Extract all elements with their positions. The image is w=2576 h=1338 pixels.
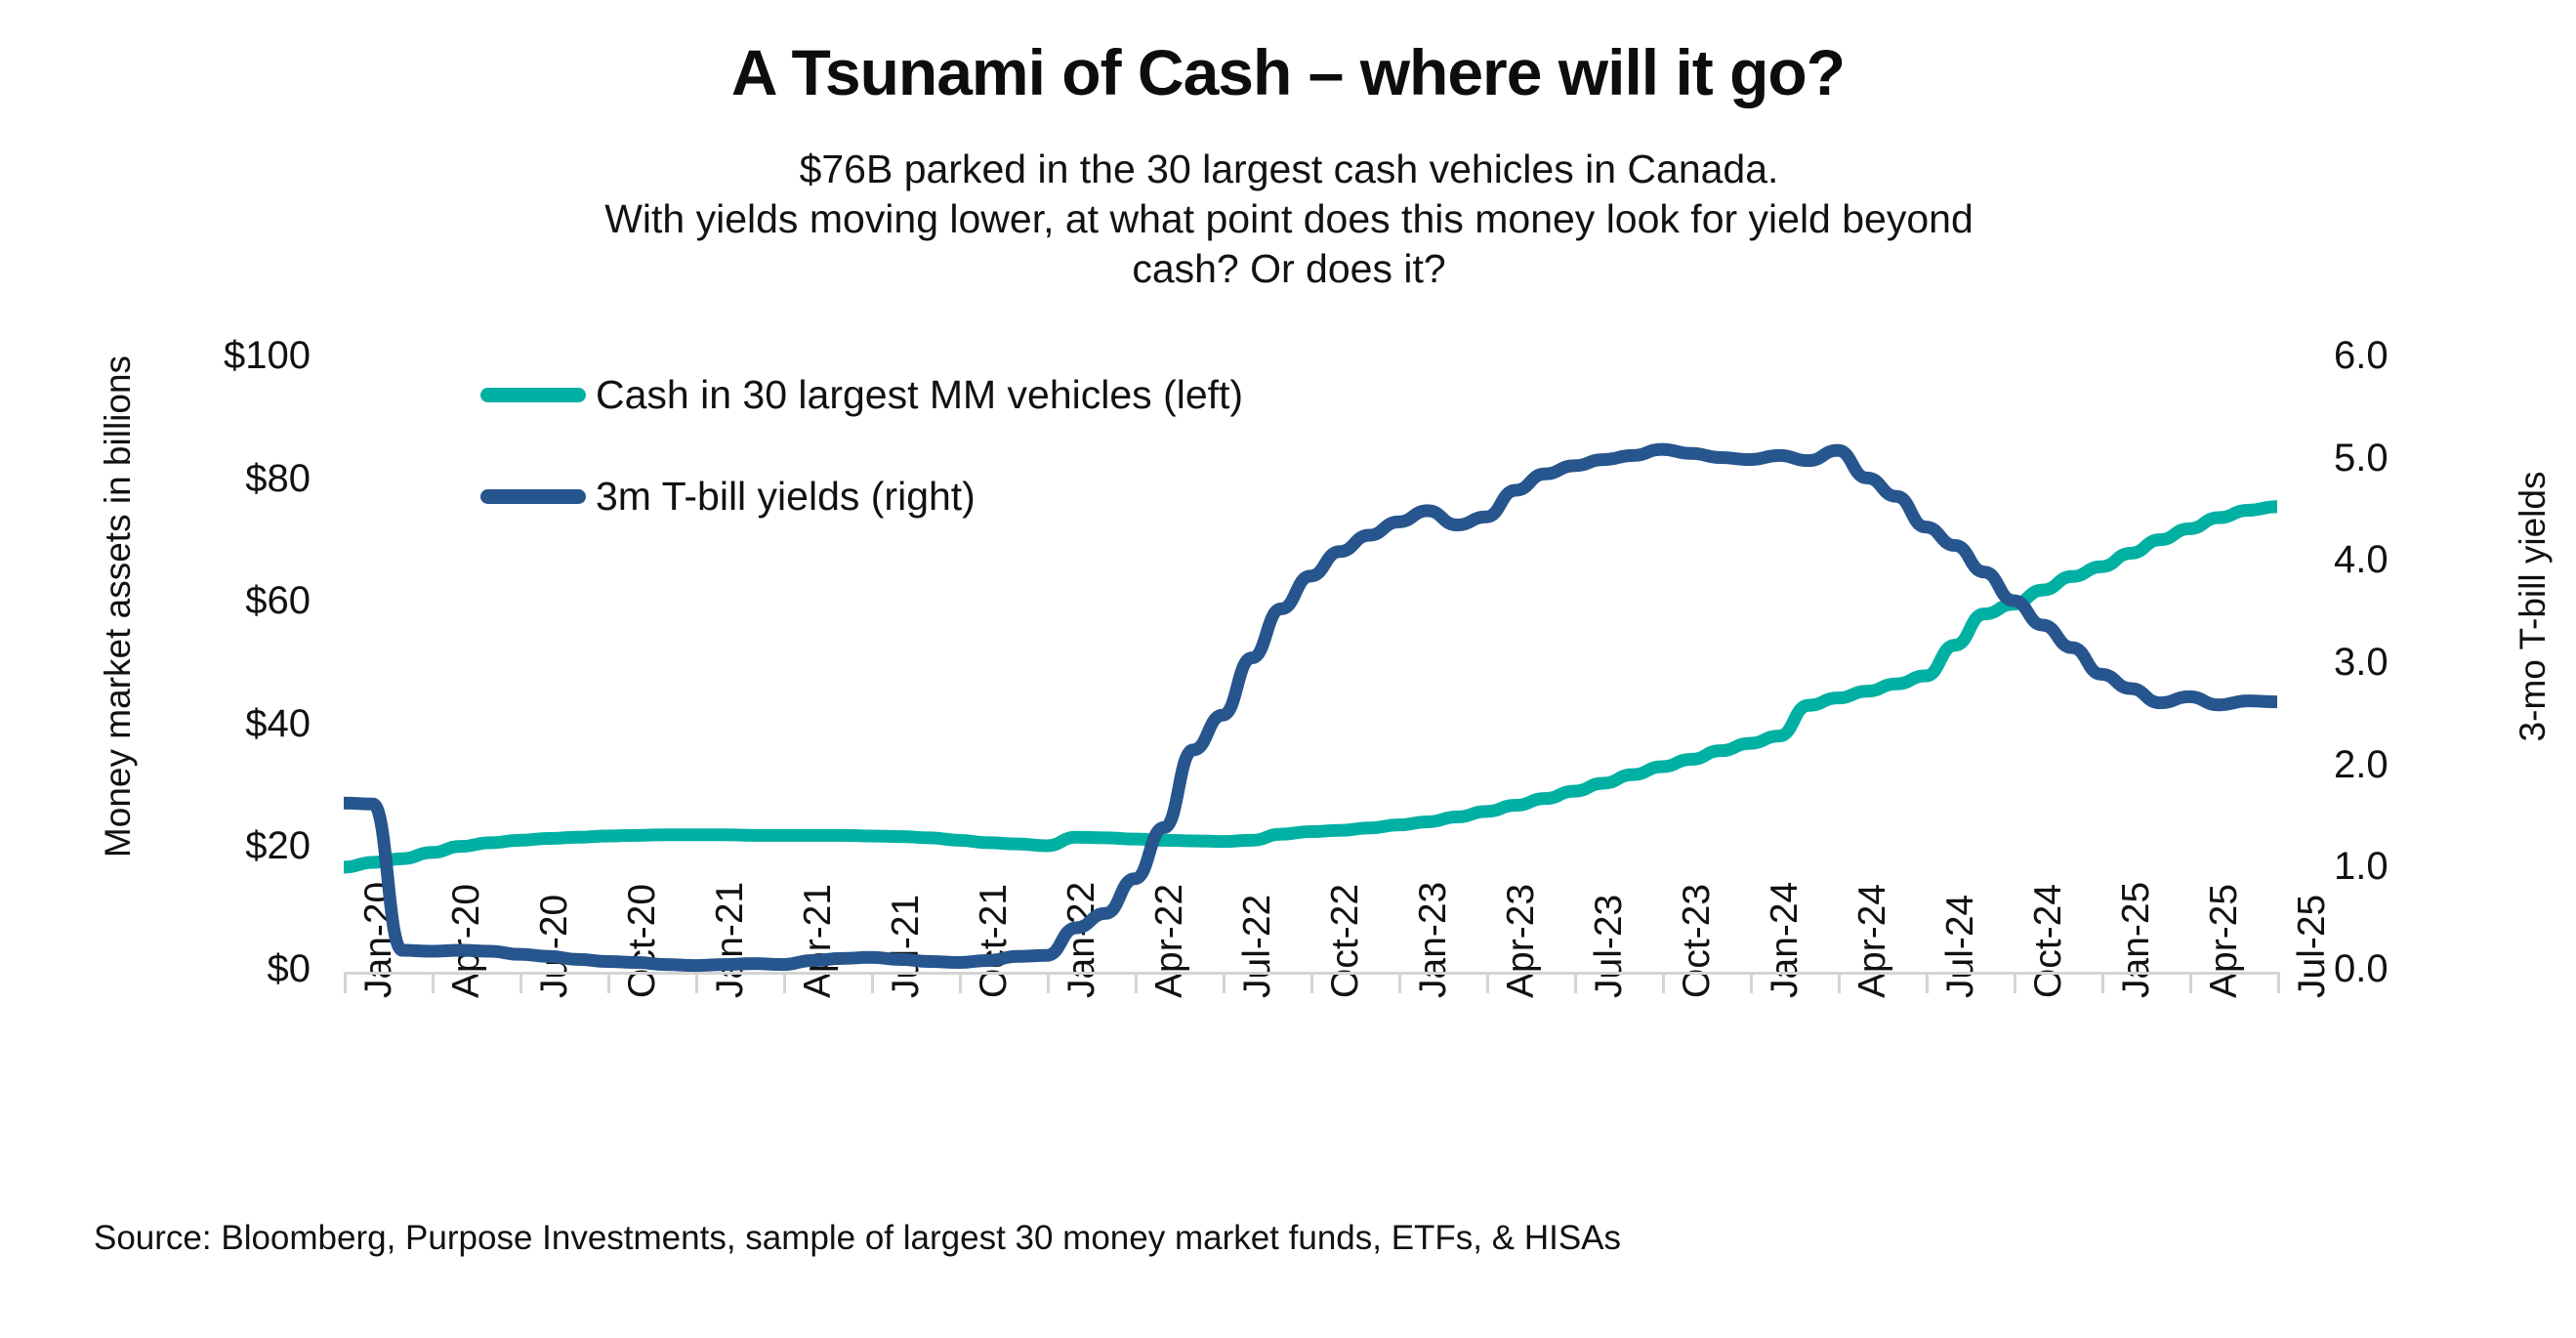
subtitle-line-2: With yields moving lower, at what point …	[322, 194, 2256, 244]
y-axis-right-title: 3-mo T-bill yields	[2513, 304, 2554, 909]
x-tickmark	[1926, 972, 1929, 993]
y-right-tick-label: 5.0	[2334, 437, 2389, 481]
subtitle-line-3: cash? Or does it?	[322, 244, 2256, 294]
legend-item-cash: Cash in 30 largest MM vehicles (left)	[480, 363, 1652, 426]
legend-swatch-yield	[480, 489, 586, 504]
x-tickmark	[1398, 972, 1401, 993]
x-tickmark	[871, 972, 874, 993]
y-left-tick-label: $0	[268, 947, 312, 991]
x-tickmark	[1574, 972, 1577, 993]
x-tickmark	[2277, 972, 2280, 993]
y-right-tick-label: 0.0	[2334, 947, 2389, 991]
x-tickmark	[519, 972, 522, 993]
y-right-tick-label: 4.0	[2334, 538, 2389, 582]
chart-page: A Tsunami of Cash – where will it go? $7…	[0, 0, 2576, 1338]
x-tickmark	[1223, 972, 1226, 993]
y-left-tick-label: $60	[245, 579, 311, 623]
y-left-tick-label: $20	[245, 824, 311, 868]
y-right-tick-label: 2.0	[2334, 743, 2389, 787]
x-tickmark	[959, 972, 962, 993]
x-tickmark	[1135, 972, 1138, 993]
x-tick-label: Jul-25	[2291, 895, 2334, 998]
series-line-cash-assets	[344, 507, 2277, 867]
x-tickmark	[1047, 972, 1050, 993]
y-left-tick-label: $100	[224, 334, 311, 378]
page-title: A Tsunami of Cash – where will it go?	[0, 35, 2576, 109]
x-tickmark	[2014, 972, 2016, 993]
x-tickmark	[1750, 972, 1753, 993]
subtitle-line-1: $76B parked in the 30 largest cash vehic…	[322, 145, 2256, 194]
x-tickmark	[607, 972, 610, 993]
legend-label-cash: Cash in 30 largest MM vehicles (left)	[596, 372, 1243, 418]
legend-label-yield: 3m T-bill yields (right)	[596, 474, 976, 520]
y-right-tick-label: 3.0	[2334, 641, 2389, 685]
x-tickmark	[2189, 972, 2192, 993]
legend-item-yield: 3m T-bill yields (right)	[480, 465, 1652, 527]
x-tickmark	[695, 972, 698, 993]
x-tickmark	[1310, 972, 1313, 993]
x-tickmark	[1838, 972, 1841, 993]
x-tickmark	[432, 972, 435, 993]
chart-subtitle: $76B parked in the 30 largest cash vehic…	[322, 145, 2256, 293]
source-note: Source: Bloomberg, Purpose Investments, …	[94, 1219, 1621, 1258]
x-tickmark	[1662, 972, 1665, 993]
y-left-tick-label: $80	[245, 457, 311, 501]
y-left-tick-label: $40	[245, 702, 311, 746]
x-tickmark	[2101, 972, 2104, 993]
x-tickmark	[783, 972, 786, 993]
y-axis-left-title: Money market assets in billions	[98, 265, 139, 948]
x-tickmark	[344, 972, 347, 993]
legend-swatch-cash	[480, 388, 586, 402]
chart-legend: Cash in 30 largest MM vehicles (left) 3m…	[480, 363, 1652, 527]
y-right-tick-label: 1.0	[2334, 845, 2389, 889]
y-right-tick-label: 6.0	[2334, 334, 2389, 378]
x-tickmark	[1486, 972, 1489, 993]
